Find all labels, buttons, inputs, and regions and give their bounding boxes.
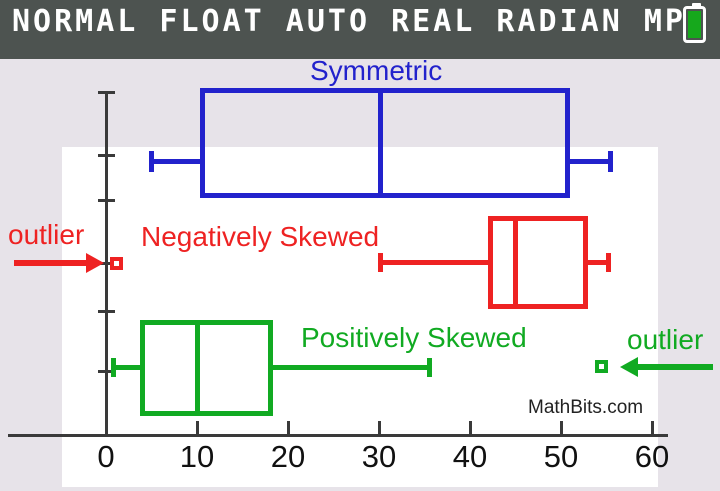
status-bar: NORMAL FLOAT AUTO REAL RADIAN MP (0, 0, 720, 59)
positive-box (140, 320, 273, 416)
x-axis-label-60: 60 (635, 439, 669, 475)
y-axis-tick (98, 91, 115, 94)
y-axis-tick (98, 154, 115, 157)
symmetric-box (200, 88, 570, 198)
negative-right-cap (606, 253, 611, 272)
symmetric-left-cap (149, 151, 154, 172)
y-axis-tick (98, 199, 115, 202)
symmetric-median (378, 88, 383, 198)
x-axis-tick-10 (196, 421, 199, 435)
series-label-positively-skewed: Positively Skewed (301, 322, 527, 354)
negative-left-whisker (380, 260, 492, 265)
outlier-arrow-positive-head (620, 357, 638, 377)
positive-left-cap (111, 358, 116, 377)
battery-fill (688, 11, 701, 38)
x-axis-label-20: 20 (271, 439, 305, 475)
outlier-arrow-positive-shaft (638, 364, 713, 370)
x-axis-label-30: 30 (362, 439, 396, 475)
x-axis-label-40: 40 (453, 439, 487, 475)
outlier-label-negative: outlier (8, 219, 84, 251)
negative-median (513, 216, 518, 309)
x-axis-tick-40 (469, 421, 472, 435)
negative-box (488, 216, 588, 309)
outlier-arrow-negative-shaft (14, 260, 89, 266)
x-axis-label-0: 0 (97, 439, 114, 475)
x-axis-label-10: 10 (180, 439, 214, 475)
battery-icon (683, 6, 706, 43)
positive-right-cap (427, 358, 432, 377)
x-axis-tick-50 (560, 421, 563, 435)
calculator-screen: NORMAL FLOAT AUTO REAL RADIAN MP 0 10 20… (0, 0, 720, 491)
outlier-marker-negative (110, 257, 123, 270)
x-axis-label-50: 50 (544, 439, 578, 475)
x-axis-tick-20 (287, 421, 290, 435)
x-axis-tick-60 (651, 421, 654, 435)
negative-left-cap (378, 253, 383, 272)
positive-median (195, 320, 200, 416)
y-axis-tick (98, 310, 115, 313)
x-axis-tick-30 (378, 421, 381, 435)
series-label-negatively-skewed: Negatively Skewed (141, 221, 379, 253)
plot-area: 0 10 20 30 40 50 60 Symmetric Negatively… (0, 59, 720, 491)
symmetric-right-cap (608, 151, 613, 172)
outlier-marker-positive (595, 360, 608, 373)
x-axis-tick-0 (105, 421, 108, 435)
positive-right-whisker (270, 365, 430, 370)
outlier-arrow-negative-head (86, 253, 104, 273)
symmetric-left-whisker (151, 159, 203, 164)
status-bar-text: NORMAL FLOAT AUTO REAL RADIAN MP (12, 4, 686, 39)
series-label-symmetric: Symmetric (310, 55, 442, 87)
symmetric-right-whisker (567, 159, 612, 164)
outlier-label-positive: outlier (627, 324, 703, 356)
watermark: MathBits.com (528, 397, 643, 419)
